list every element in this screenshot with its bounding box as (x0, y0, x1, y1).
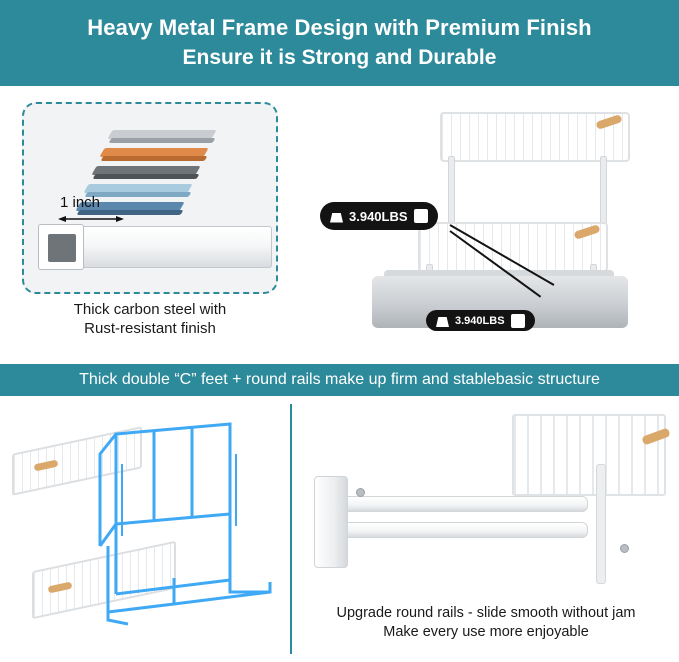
layer-plate-2-edge (101, 156, 208, 161)
scale-icon-small (436, 314, 449, 327)
bottom-content-area: Upgrade round rails - slide smooth witho… (0, 396, 679, 662)
adjustable-post (596, 464, 606, 584)
weight-badge-secondary-text: 3.940LBS (455, 315, 505, 327)
steel-callout-box: 1 inch (22, 102, 278, 294)
frame-blueprint-illustration (4, 406, 286, 652)
right-photo-caption-line1: Upgrade round rails - slide smooth witho… (298, 604, 674, 623)
screw-icon-left (356, 488, 365, 497)
blueprint-overlay-lines (4, 406, 286, 652)
weight-badge-main: 3.940LBS (320, 202, 438, 230)
header-banner: Heavy Metal Frame Design with Premium Fi… (0, 0, 679, 86)
layer-plate-4-edge (85, 192, 192, 197)
vertical-divider (290, 404, 292, 654)
right-photo-caption-line2: Make every use more enjoyable (298, 623, 674, 642)
tube-hollow-core (48, 234, 76, 262)
product-infographic: Heavy Metal Frame Design with Premium Fi… (0, 0, 679, 662)
scale-icon (330, 210, 343, 223)
weight-unit-icon-small (511, 314, 525, 328)
round-rail-lower (338, 522, 588, 538)
layer-plate-3-edge (93, 174, 200, 179)
steel-tube-cross-section (38, 224, 84, 270)
measurement-arrow-icon (58, 215, 124, 223)
callout-caption-line1: Thick carbon steel with (22, 300, 278, 319)
screw-icon-right (620, 544, 629, 553)
c-foot-bracket (314, 476, 348, 568)
feature-strip: Thick double “C” feet + round rails make… (0, 364, 679, 396)
feature-strip-text: Thick double “C” feet + round rails make… (79, 371, 600, 389)
layer-plate-1-edge (109, 138, 216, 143)
product-photo-2tier-rack: 3.940LBS 3.940LBS (300, 94, 672, 356)
callout-caption-line2: Rust-resistant finish (22, 319, 278, 338)
right-photo-caption: Upgrade round rails - slide smooth witho… (298, 604, 674, 642)
round-rails-photo (298, 404, 674, 600)
wire-basket-detail (512, 414, 666, 496)
round-rail-upper (338, 496, 588, 512)
weight-badge-main-text: 3.940LBS (349, 209, 408, 224)
callout-caption: Thick carbon steel with Rust-resistant f… (22, 300, 278, 338)
weight-unit-icon (414, 209, 428, 223)
header-title-line2: Ensure it is Strong and Durable (183, 43, 497, 73)
header-title-line1: Heavy Metal Frame Design with Premium Fi… (87, 13, 591, 43)
top-content-area: 1 inch Thick carbon steel with Rust-resi… (0, 86, 679, 364)
measurement-label: 1 inch (60, 194, 100, 211)
weight-badge-secondary: 3.940LBS (426, 310, 535, 331)
